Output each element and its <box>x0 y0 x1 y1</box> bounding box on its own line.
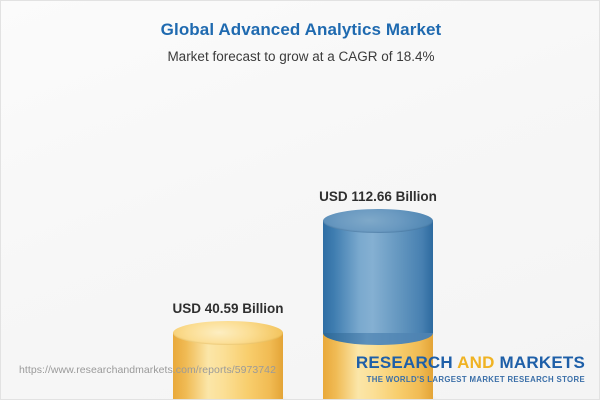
cylinder-top-cap <box>173 321 283 345</box>
logo-word-and: AND <box>457 353 494 372</box>
logo-tagline: THE WORLD'S LARGEST MARKET RESEARCH STOR… <box>356 375 585 384</box>
logo-word-research: RESEARCH <box>356 353 457 372</box>
logo-word-markets: MARKETS <box>495 353 585 372</box>
logo-wordmark: RESEARCH AND MARKETS <box>356 353 585 373</box>
chart-plot-area: USD 40.59 Billion 2023 USD 112.66 Billio… <box>1 1 600 400</box>
bar-value-label-2029: USD 112.66 Billion <box>283 189 473 204</box>
chart-card: Global Advanced Analytics Market Market … <box>0 0 600 400</box>
cylinder-top-cap <box>323 209 433 233</box>
chart-footer: https://www.researchandmarkets.com/repor… <box>1 347 600 399</box>
cylinder-body <box>323 221 433 333</box>
research-and-markets-logo[interactable]: RESEARCH AND MARKETS THE WORLD'S LARGEST… <box>356 353 585 384</box>
bar-value-label-2023: USD 40.59 Billion <box>133 301 323 316</box>
bar-segment-2029-growth[interactable] <box>323 221 433 333</box>
source-url-link[interactable]: https://www.researchandmarkets.com/repor… <box>19 364 276 376</box>
